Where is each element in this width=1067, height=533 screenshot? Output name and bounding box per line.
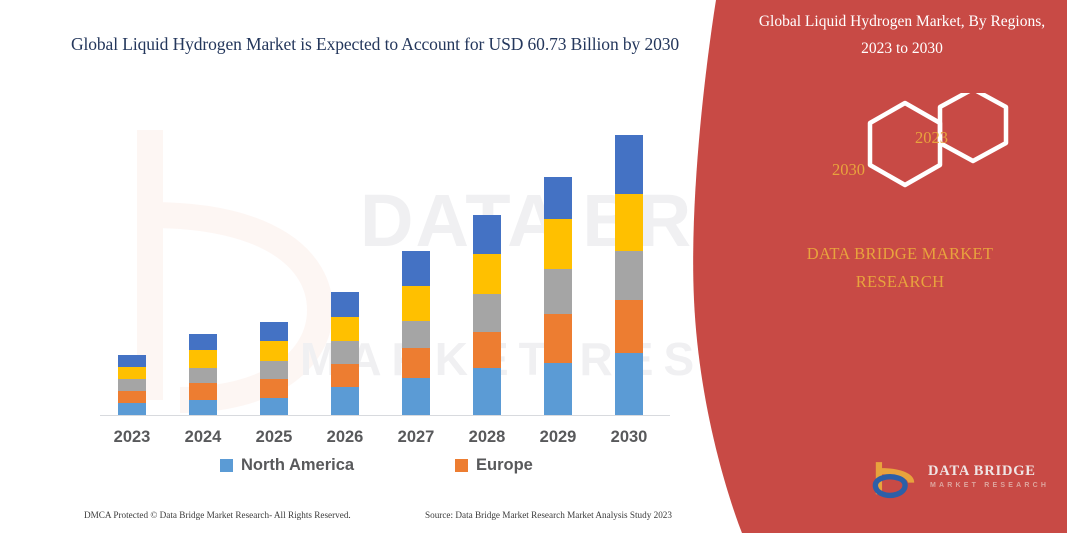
- chart-title: Global Liquid Hydrogen Market is Expecte…: [60, 30, 690, 58]
- hex-year-right: 2023: [915, 128, 948, 148]
- chart-bar-segment: [118, 355, 146, 367]
- x-axis-label: 2024: [171, 428, 235, 447]
- chart-bar-segment: [473, 332, 501, 368]
- chart-bar-segment: [473, 215, 501, 254]
- brand-name-line-2: RESEARCH: [760, 268, 1040, 296]
- chart-bar[interactable]: [260, 322, 288, 415]
- chart-bar[interactable]: [402, 251, 430, 415]
- chart-bar-segment: [331, 387, 359, 415]
- x-axis-label: 2030: [597, 428, 661, 447]
- legend-label-europe: Europe: [476, 456, 533, 475]
- chart-bar[interactable]: [473, 215, 501, 415]
- chart-bar-segment: [189, 368, 217, 383]
- hexagon-pair-icon: [810, 93, 1067, 218]
- infographic-root: DATA BRIDGE MARKET RESEARCH Global Liqui…: [0, 0, 1067, 533]
- chart-legend: North America Europe: [100, 456, 670, 480]
- data-bridge-b-logo-icon: [870, 458, 920, 502]
- x-axis-label: 2025: [242, 428, 306, 447]
- chart-bar-segment: [118, 367, 146, 379]
- chart-bar-segment: [189, 383, 217, 399]
- hex-year-left: 2030: [832, 160, 865, 180]
- footer-logo: DATA BRIDGE MARKET RESEARCH: [870, 458, 1055, 506]
- panel-title: Global Liquid Hydrogen Market, By Region…: [752, 8, 1052, 62]
- x-axis-label: 2023: [100, 428, 164, 447]
- chart-bar-segment: [615, 300, 643, 353]
- footer-source: Source: Data Bridge Market Research Mark…: [425, 510, 672, 520]
- chart-bar-segment: [615, 353, 643, 415]
- chart-bar-segment: [544, 314, 572, 363]
- brand-name-line-1: DATA BRIDGE MARKET: [760, 240, 1040, 268]
- chart-bar-segment: [260, 379, 288, 398]
- x-axis-line: [100, 415, 670, 416]
- legend-item-north-america[interactable]: North America: [220, 456, 354, 475]
- chart-bar-segment: [615, 251, 643, 300]
- chart-bar-segment: [260, 322, 288, 341]
- chart-bar-segment: [402, 378, 430, 415]
- chart-bar-segment: [118, 391, 146, 403]
- chart-bar-segment: [189, 334, 217, 350]
- x-axis-label: 2027: [384, 428, 448, 447]
- footer-copyright: DMCA Protected © Data Bridge Market Rese…: [84, 510, 351, 520]
- chart-bar[interactable]: [615, 135, 643, 415]
- chart-bar-segment: [118, 379, 146, 391]
- chart-bar-segment: [331, 317, 359, 342]
- chart-bar-segment: [473, 294, 501, 332]
- chart-bar-segment: [331, 341, 359, 363]
- footer-logo-subtitle: MARKET RESEARCH: [930, 482, 1049, 489]
- chart-bar-segment: [402, 348, 430, 378]
- chart-bar-segment: [544, 363, 572, 415]
- x-axis-label: 2028: [455, 428, 519, 447]
- chart-bar-segment: [189, 400, 217, 415]
- legend-swatch-europe: [455, 459, 468, 472]
- chart-bar-segment: [402, 286, 430, 321]
- chart-bar-segment: [260, 398, 288, 415]
- chart-bar-segment: [544, 269, 572, 314]
- brand-name: DATA BRIDGE MARKET RESEARCH: [760, 240, 1040, 296]
- chart-bar[interactable]: [118, 355, 146, 415]
- chart-bar-segment: [402, 251, 430, 286]
- red-panel-content: Global Liquid Hydrogen Market, By Region…: [740, 0, 1067, 533]
- chart-bar-segment: [544, 219, 572, 269]
- legend-label-north-america: North America: [241, 456, 354, 475]
- chart-bar-segment: [615, 135, 643, 194]
- chart-bar[interactable]: [331, 292, 359, 415]
- chart-bar-segment: [189, 350, 217, 367]
- chart-bar[interactable]: [544, 177, 572, 415]
- chart-bar-segment: [473, 254, 501, 294]
- chart-bar-segment: [615, 194, 643, 252]
- chart-plot-area: [100, 120, 670, 416]
- x-axis-labels: 20232024202520262027202820292030: [100, 428, 670, 454]
- chart-bar-segment: [331, 364, 359, 388]
- chart-bar[interactable]: [189, 334, 217, 415]
- chart-bar-segment: [402, 321, 430, 349]
- chart-bar-segment: [473, 368, 501, 415]
- chart-bar-segment: [260, 341, 288, 361]
- chart-bar-segment: [544, 177, 572, 219]
- legend-item-europe[interactable]: Europe: [455, 456, 533, 475]
- x-axis-label: 2026: [313, 428, 377, 447]
- chart-bar-segment: [260, 361, 288, 379]
- chart-bar-segment: [118, 403, 146, 415]
- x-axis-label: 2029: [526, 428, 590, 447]
- legend-swatch-north-america: [220, 459, 233, 472]
- chart-bar-segment: [331, 292, 359, 317]
- footer-logo-name: DATA BRIDGE: [928, 463, 1036, 480]
